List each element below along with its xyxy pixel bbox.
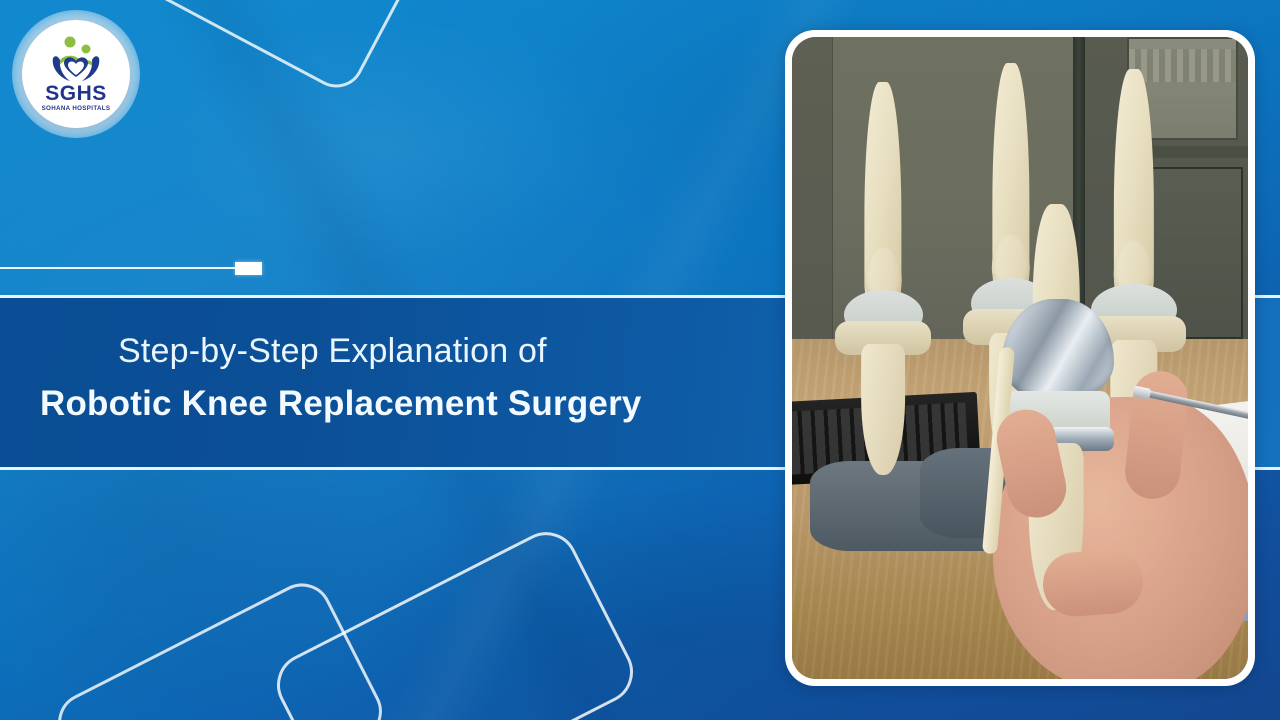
tibia-left — [861, 344, 905, 475]
hero-photo-card — [785, 30, 1255, 686]
promo-banner: SGHS SOHANA HOSPITALS Step-by-Step Expla… — [0, 0, 1280, 720]
anatomical-knee-model-left — [828, 82, 937, 467]
headline-line-2: Robotic Knee Replacement Surgery — [40, 381, 760, 427]
implant-femoral-component — [1002, 299, 1114, 402]
accent-line — [0, 267, 240, 269]
photo-wall-panel — [792, 37, 833, 339]
brand-name: SGHS — [45, 83, 107, 104]
brand-logo[interactable]: SGHS SOHANA HOSPITALS — [22, 20, 130, 128]
knee-implant-prosthesis — [988, 204, 1125, 602]
sghs-family-hands-heart-icon — [46, 36, 106, 82]
rounded-rectangle-bottom-left-2-decor — [266, 521, 644, 720]
headline-line-1: Step-by-Step Explanation of — [118, 330, 760, 373]
headline: Step-by-Step Explanation of Robotic Knee… — [40, 330, 760, 426]
brand-tagline: SOHANA HOSPITALS — [42, 106, 111, 112]
femur-left — [865, 82, 902, 305]
accent-tick-marker — [235, 262, 262, 275]
rounded-rectangle-bottom-left-1-decor — [48, 573, 392, 720]
hero-photo — [792, 37, 1248, 679]
surgeon-finger-2 — [1041, 547, 1146, 618]
rounded-rectangle-top-left-decor — [127, 0, 423, 97]
